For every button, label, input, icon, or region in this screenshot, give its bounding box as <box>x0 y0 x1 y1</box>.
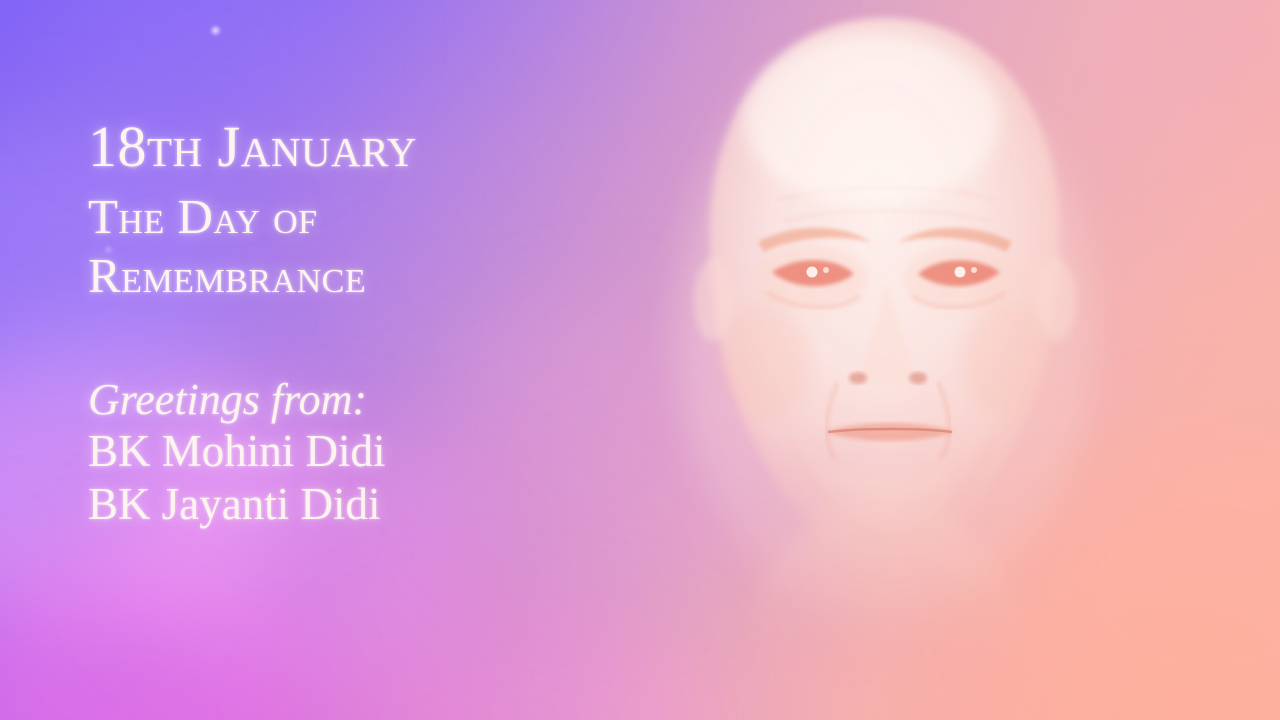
headline-subtitle-line-2: Remembrance <box>88 251 708 300</box>
greeting-name-2: BK Jayanti Didi <box>88 478 708 531</box>
headline-subtitle-line-1: The Day of <box>88 192 708 241</box>
sparkle-icon <box>212 27 219 34</box>
greeting-label: Greetings from: <box>88 374 708 425</box>
greeting-name-1: BK Mohini Didi <box>88 425 708 478</box>
headline-date: 18th January <box>88 118 708 176</box>
title-text-block: 18th January The Day of Remembrance Gree… <box>88 118 708 530</box>
slide-canvas: 18th January The Day of Remembrance Gree… <box>0 0 1280 720</box>
greeting-block: Greetings from: BK Mohini Didi BK Jayant… <box>88 374 708 530</box>
